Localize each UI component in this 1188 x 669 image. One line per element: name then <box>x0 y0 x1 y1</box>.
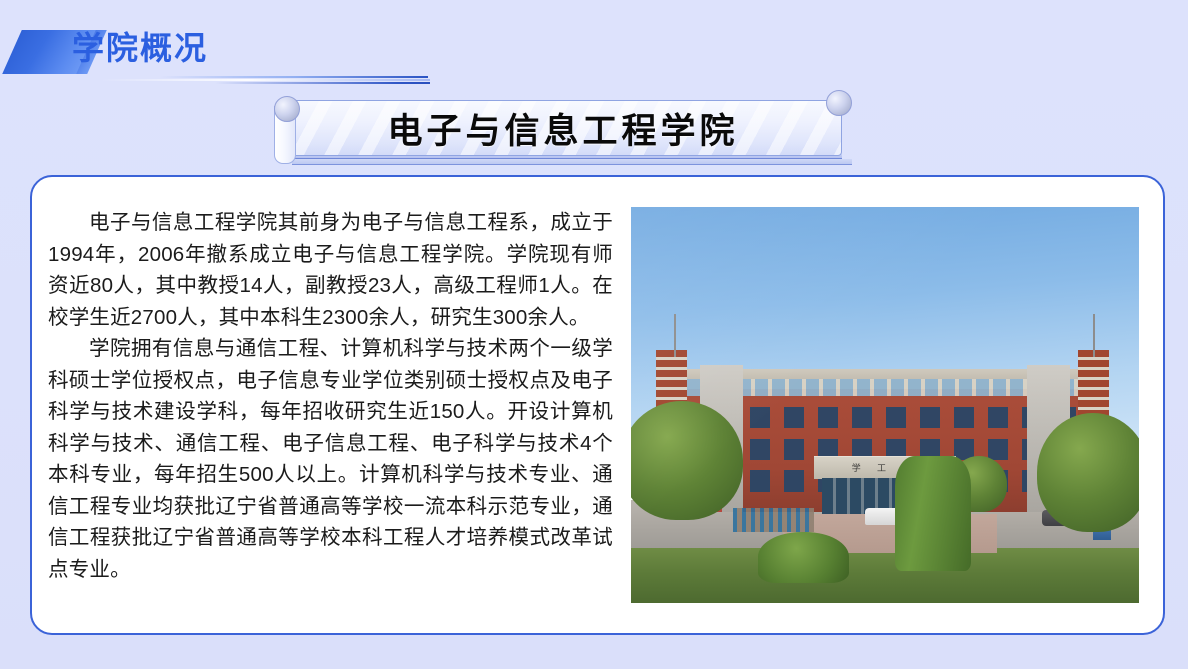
campus-building-photo: 学 工 楼 <box>631 207 1139 603</box>
header-divider-accent <box>215 82 430 84</box>
description-text-column: 电子与信息工程学院其前身为电子与信息工程系，成立于1994年，2006年撤系成立… <box>48 195 613 619</box>
section-banner: 电子与信息工程学院 <box>266 92 858 168</box>
paragraph-overview: 电子与信息工程学院其前身为电子与信息工程系，成立于1994年，2006年撤系成立… <box>48 207 613 333</box>
content-card: 电子与信息工程学院其前身为电子与信息工程系，成立于1994年，2006年撤系成立… <box>30 175 1165 635</box>
slide-header: 学院概况 <box>0 22 1188 84</box>
header-divider-light <box>100 79 430 81</box>
page-title: 学院概况 <box>72 26 208 70</box>
banner-underline-secondary <box>292 159 852 165</box>
paragraph-programs: 学院拥有信息与通信工程、计算机科学与技术两个一级学科硕士学位授权点，电子信息专业… <box>48 333 613 585</box>
header-divider-blue <box>160 76 428 78</box>
photo-column: 学 工 楼 <box>613 195 1151 619</box>
slide-root: 学院概况 电子与信息工程学院 电子与信息工程学院其前身为电子与信息工程系，成立于… <box>0 0 1188 669</box>
content-card-inner: 电子与信息工程学院其前身为电子与信息工程系，成立于1994年，2006年撤系成立… <box>32 177 1163 633</box>
banner-title: 电子与信息工程学院 <box>284 100 842 156</box>
photo-highlight-overlay <box>631 207 1139 603</box>
